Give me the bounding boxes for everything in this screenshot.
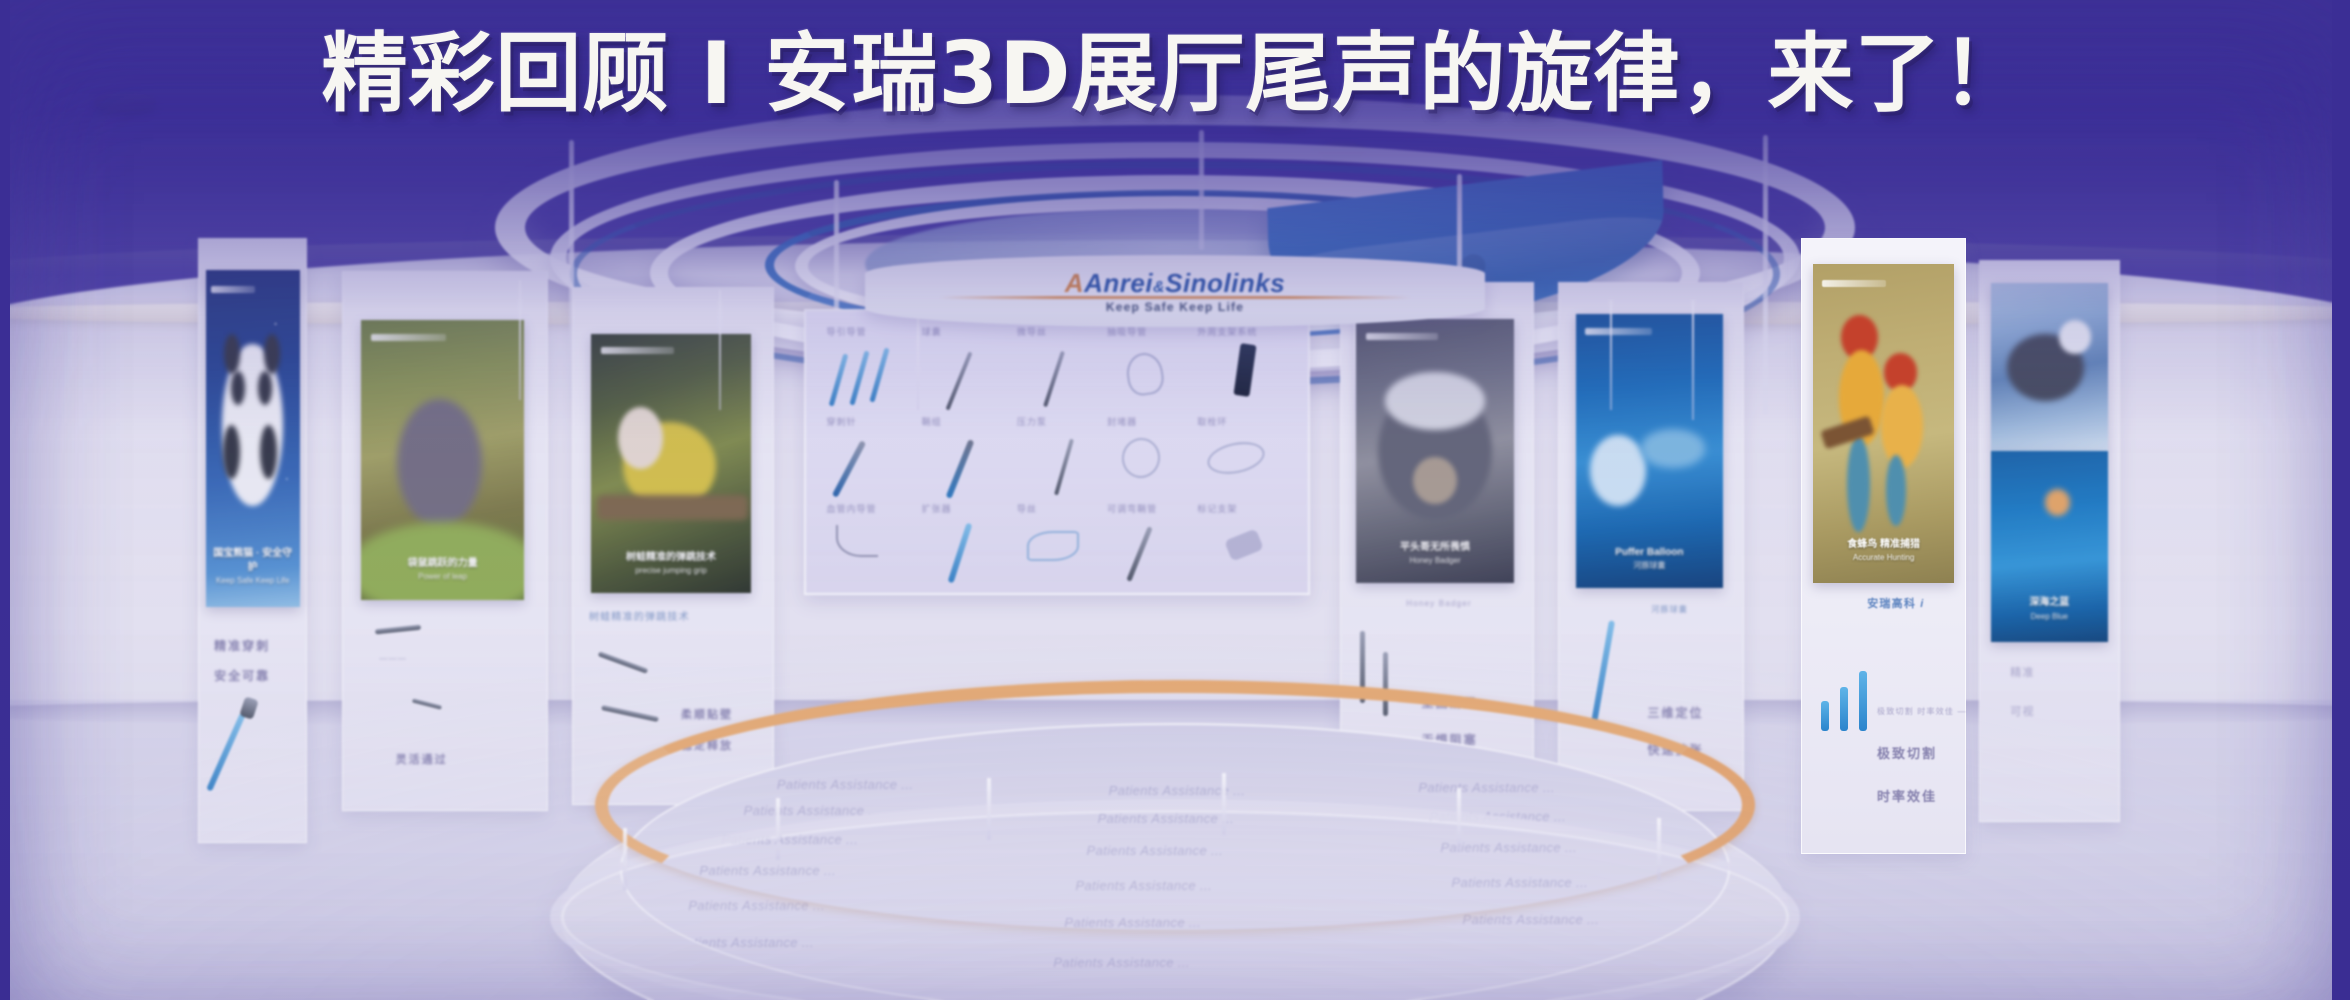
- bird-panel-brand: 安瑞高科 i: [1867, 595, 1924, 611]
- poster-wire-5: [1610, 300, 1612, 410]
- ring-rod-5: [1199, 130, 1204, 250]
- frog-branch: [597, 495, 747, 521]
- device-panda-2: [239, 696, 258, 719]
- product-label-8: 压力泵: [1017, 415, 1047, 428]
- poster-logo-badger: [1366, 333, 1438, 340]
- product-icon-2: [945, 352, 972, 411]
- poster-logo-bird: [1822, 280, 1887, 287]
- frog-panel-subtitle: 树蛙精准的弹跳技术: [589, 608, 690, 623]
- puffer-balloon: [1590, 435, 1646, 506]
- rail-post-2: [776, 798, 780, 860]
- bird-panel-note: 极致切割 时率效佳 —: [1877, 706, 1967, 717]
- product-icon-7: [945, 439, 974, 499]
- caption-bird-line1: 极致切割: [1877, 743, 1937, 762]
- product-label-7: 鞘组: [922, 415, 942, 428]
- bird-2-tail: [1886, 455, 1906, 525]
- ceiling-light-3: [1318, 142, 1366, 158]
- brand-underline: [939, 296, 1410, 299]
- product-icon-5: [1234, 344, 1257, 398]
- product-icon-10: [1205, 438, 1268, 479]
- poster-caption-bird: 食蜂鸟 精准捕猎 Accurate Hunting: [1822, 538, 1946, 564]
- device-panda-1: [206, 712, 246, 791]
- poster-bird[interactable]: 食蜂鸟 精准捕猎 Accurate Hunting: [1813, 264, 1954, 583]
- poster-caption-ocean: Puffer Balloon 河豚球囊: [1585, 546, 1715, 572]
- caption-frog-line1: 柔顺贴壁: [681, 706, 733, 722]
- bird-2-body: [1881, 385, 1923, 468]
- frog-head: [618, 407, 663, 469]
- kangaroo-silhouette: [397, 399, 482, 528]
- exhibition-hall-banner: 国宝熊猫 · 安全守护 Keep Safe Keep Life 精准穿刺 安全可…: [0, 0, 2350, 1000]
- bar-2: [1840, 687, 1848, 731]
- poster-caption-frog: 树蛙精准的弹跳技术 precise jumping grip: [601, 551, 742, 577]
- product-label-11: 血管内导管: [826, 502, 876, 515]
- poster-wire-6: [1692, 300, 1694, 420]
- panel-kangaroo[interactable]: 袋鼠跳跃的力量 Power of leap ——— 灵活通过: [342, 271, 548, 811]
- right-border: [2332, 0, 2350, 1000]
- product-label-9: 封堵器: [1107, 415, 1137, 428]
- device-ocean-1: [1591, 620, 1615, 723]
- poster-panda[interactable]: 国宝熊猫 · 安全守护 Keep Safe Keep Life: [206, 270, 300, 608]
- panel-bird[interactable]: 食蜂鸟 精准捕猎 Accurate Hunting 安瑞高科 i 极致切割 时率…: [1801, 238, 1967, 854]
- product-label-14: 可调弯鞘管: [1107, 502, 1157, 515]
- product-icon-1a: [829, 353, 849, 406]
- product-icon-11: [836, 525, 878, 557]
- panda-eye-left: [231, 371, 245, 405]
- ceiling-light-2: [1250, 108, 1312, 128]
- device-frog-1: [598, 651, 649, 673]
- product-label-2: 球囊: [922, 325, 942, 338]
- product-label-12: 扩张器: [922, 502, 952, 515]
- bar-1: [1821, 701, 1829, 731]
- ceiling-light-1: [94, 92, 156, 112]
- rail-post-3: [987, 778, 991, 840]
- panel-panda[interactable]: 国宝熊猫 · 安全守护 Keep Safe Keep Life 精准穿刺 安全可…: [198, 238, 307, 843]
- caption-bird-line2: 时率效佳: [1877, 786, 1937, 805]
- puffer-tail: [1641, 429, 1706, 467]
- product-icon-9: [1119, 435, 1163, 481]
- badger-panel-subtitle: Honey Badger: [1406, 599, 1472, 608]
- product-label-15: 标记支架: [1197, 502, 1237, 515]
- caption-eagle-line2: 可视: [2010, 703, 2034, 719]
- poster-ocean[interactable]: Puffer Balloon 河豚球囊: [1576, 314, 1723, 588]
- sea-sun: [2045, 489, 2071, 516]
- device-kangaroo-1: [375, 624, 421, 634]
- caption-eagle-line1: 精准: [2010, 664, 2034, 680]
- poster-sea[interactable]: 深海之蓝 Deep Blue: [1991, 451, 2108, 641]
- brand-swoosh: A: [1065, 268, 1084, 298]
- bar-3: [1859, 671, 1867, 731]
- poster-frog[interactable]: 树蛙精准的弹跳技术 precise jumping grip: [591, 334, 751, 592]
- device-kangaroo-2: [412, 699, 442, 710]
- poster-wire-2: [719, 290, 721, 410]
- caption-panda-line2: 安全可靠: [214, 667, 270, 684]
- product-label-1: 导引导管: [826, 325, 866, 338]
- panel-eagle[interactable]: 深海之蓝 Deep Blue 精准 可视: [1979, 260, 2120, 822]
- rail-post-5: [1457, 788, 1461, 850]
- product-label-6: 穿刺针: [826, 415, 856, 428]
- caption-kangaroo-sub: ———: [379, 654, 407, 663]
- product-icon-1b: [849, 350, 869, 405]
- product-grid-board[interactable]: 导引导管 球囊 微导丝 抽吸导管 外周支架系统 穿刺针 鞘组 压力泵 封堵器 取…: [804, 309, 1309, 595]
- showroom-scene: 国宝熊猫 · 安全守护 Keep Safe Keep Life 精准穿刺 安全可…: [0, 0, 2350, 1000]
- product-icon-14: [1127, 526, 1153, 582]
- brand-header-band: AAnrei&Sinolinks Keep Safe Keep Life: [865, 255, 1485, 327]
- brand-tagline: Keep Safe Keep Life: [1106, 300, 1244, 314]
- poster-logo-frog: [601, 347, 675, 354]
- bird-1-tail: [1847, 436, 1870, 532]
- poster-caption-kangaroo: 袋鼠跳跃的力量 Power of leap: [371, 557, 515, 583]
- product-icon-6: [832, 440, 866, 498]
- product-label-10: 取栓环: [1197, 415, 1227, 428]
- device-frog-2: [601, 705, 659, 722]
- panda-ear-right: [264, 334, 280, 375]
- brand-name: AAnrei&Sinolinks: [1065, 268, 1285, 299]
- poster-caption-panda: 国宝熊猫 · 安全守护 Keep Safe Keep Life: [211, 547, 294, 587]
- caption-panda-line1: 精准穿刺: [214, 637, 270, 654]
- product-icon-8: [1054, 438, 1074, 495]
- product-label-13: 导丝: [1017, 502, 1037, 515]
- badger-muzzle: [1413, 457, 1457, 504]
- panda-arm-right: [260, 425, 277, 479]
- caption-ocean-line1: 三维定位: [1648, 704, 1704, 721]
- poster-wire-3: [917, 310, 919, 410]
- rail-post-1: [623, 828, 627, 890]
- orange-guard-rail: [595, 680, 1755, 930]
- ocean-panel-subtitle: 河豚球囊: [1651, 604, 1688, 615]
- poster-logo-ocean: [1585, 328, 1653, 335]
- badger-crown: [1385, 372, 1486, 430]
- poster-caption-badger: 平头哥无所畏惧 Honey Badger: [1366, 541, 1505, 567]
- bird-panel-bar-chart: [1821, 669, 1867, 731]
- poster-caption-sea: 深海之蓝 Deep Blue: [1998, 596, 2101, 622]
- product-icon-1c: [869, 348, 889, 403]
- product-icon-12: [947, 523, 972, 584]
- product-icon-4: [1124, 351, 1165, 398]
- rail-post-6: [1657, 818, 1661, 880]
- poster-wire-1: [519, 280, 521, 400]
- rail-post-4: [1222, 773, 1226, 835]
- left-border: [0, 0, 10, 1000]
- product-icon-3: [1043, 351, 1065, 407]
- eagle-head: [2059, 320, 2092, 354]
- poster-kangaroo[interactable]: 袋鼠跳跃的力量 Power of leap: [361, 320, 524, 600]
- product-icon-13: [1027, 531, 1079, 561]
- poster-eagle[interactable]: [1991, 283, 2108, 451]
- poster-logo-kangaroo: [371, 334, 446, 341]
- poster-logo-panda: [211, 286, 254, 293]
- poster-wire-4: [1354, 310, 1356, 410]
- product-label-3: 微导丝: [1017, 325, 1047, 338]
- product-icon-15: [1225, 528, 1265, 561]
- caption-kangaroo-line1: 灵活通过: [396, 751, 448, 767]
- poster-badger[interactable]: 平头哥无所畏惧 Honey Badger: [1356, 319, 1513, 583]
